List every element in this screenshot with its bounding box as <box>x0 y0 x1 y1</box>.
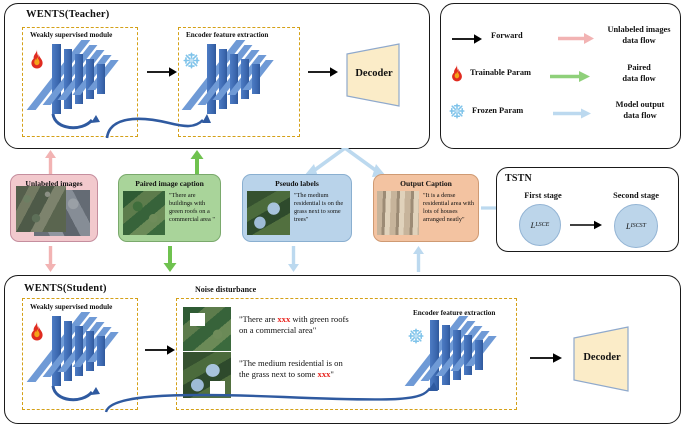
legend-label-trainable: Trainable Param <box>470 68 531 79</box>
legend-blue-arrow <box>553 107 591 120</box>
student-forward-arrow-1 <box>145 344 175 356</box>
legend-forward-arrow <box>452 33 482 45</box>
student-encoder-skip-arrow <box>104 380 434 412</box>
pink-arrow-down-to-student <box>44 246 57 272</box>
paired-image-caption-title: Paired image caption <box>119 179 220 188</box>
student-weak-module-label: Weakly supervised module <box>30 303 112 311</box>
student-caption-1-part-c: on a commercial area" <box>239 325 316 335</box>
legend-label-frozen: Frozen Param <box>472 106 523 117</box>
tstn-second-stage-label: Second stage <box>600 191 672 200</box>
legend-flame-icon <box>450 64 464 82</box>
output-caption-thumb <box>377 191 419 235</box>
student-encoder-label: Encoder feature extraction <box>413 309 495 317</box>
tstn-stage-arrow <box>570 219 602 231</box>
pink-arrow-up-to-teacher <box>44 150 57 176</box>
tstn-loss2-subscript: ISCST <box>631 223 646 229</box>
student-caption-1-part-b: with green roofs <box>290 314 348 324</box>
student-decoder-label: Decoder <box>572 352 632 363</box>
legend-pink-arrow <box>558 32 594 45</box>
student-snowflake-icon <box>408 328 424 344</box>
green-arrow-down-to-student <box>163 246 177 272</box>
student-flame-icon <box>29 321 45 341</box>
student-caption-2: "The medium residential is on the grass … <box>239 358 409 381</box>
legend-paired-flow-line2: data flow <box>622 74 655 83</box>
teacher-forward-arrow-2 <box>308 66 338 78</box>
legend-unlabeled-flow-line2: data flow <box>622 36 655 45</box>
paired-image-thumb <box>123 191 165 235</box>
legend-label-unlabeled-flow: Unlabeled images data flow <box>600 25 678 46</box>
legend-label-forward: Forward <box>491 31 523 42</box>
teacher-panel-title: WENTS(Teacher) <box>26 9 110 20</box>
flame-icon <box>29 49 45 69</box>
tstn-loss1-subscript: LSCE <box>535 222 549 228</box>
pseudo-label-thumb <box>247 191 290 235</box>
teacher-encoder-network <box>207 44 275 122</box>
blue-arrow-down-to-student <box>287 246 300 272</box>
teacher-decoder-label: Decoder <box>345 68 403 79</box>
student-caption-2-part-b: the grass next to some <box>239 369 318 379</box>
unlabeled-image-thumb-1 <box>16 186 66 232</box>
student-encoder-network <box>430 320 498 398</box>
blue-arrow-up-to-output-caption <box>412 246 425 272</box>
tstn-title: TSTN <box>505 173 532 184</box>
student-noise-disturbance-label: Noise disturbance <box>195 285 256 294</box>
legend-model-output-flow-line2: data flow <box>623 111 656 120</box>
teacher-encoder-skip-arrow <box>105 108 209 138</box>
pseudo-labels-caption-text: "The medium residential is on the grass … <box>294 192 348 224</box>
student-caption-2-part-a: "The medium residential is on <box>239 358 343 368</box>
teacher-encoder-label: Encoder feature extraction <box>186 31 268 39</box>
tstn-first-stage-label: First stage <box>510 191 576 200</box>
student-mask-patch-1 <box>190 313 205 326</box>
student-caption-2-mask: xxx <box>318 369 331 379</box>
paired-image-caption-text: "There are buildings with green roofs on… <box>169 192 216 224</box>
student-forward-arrow-2 <box>530 352 562 364</box>
student-caption-1-mask: xxx <box>277 314 290 324</box>
snowflake-icon <box>183 52 200 69</box>
legend-label-paired-flow: Paired data flow <box>600 63 678 84</box>
legend-green-arrow <box>550 70 590 83</box>
teacher-weak-module-label: Weakly supervised module <box>30 31 112 39</box>
green-arrow-up-to-teacher <box>190 150 204 176</box>
student-caption-1-part-a: "There are <box>239 314 277 324</box>
output-caption-title: Output Caption <box>374 179 478 188</box>
student-caption-1: "There are xxx with green roofs on a com… <box>239 314 399 337</box>
teacher-weak-module-skip-arrow <box>48 112 102 138</box>
teacher-forward-arrow-1 <box>147 66 177 78</box>
output-caption-text: "It is a dense residential area with lot… <box>423 192 475 224</box>
legend-label-model-output-flow: Model output data flow <box>600 100 680 121</box>
legend-unlabeled-flow-line1: Unlabeled images <box>607 25 670 34</box>
legend-snowflake-icon <box>449 103 465 119</box>
student-caption-2-part-c: " <box>330 369 334 379</box>
legend-paired-flow-line1: Paired <box>627 63 651 72</box>
tstn-second-stage-loss: LISCST <box>614 204 658 248</box>
pseudo-labels-title: Pseudo labels <box>243 179 351 188</box>
student-weak-module-skip-arrow <box>48 384 102 410</box>
legend-model-output-flow-line1: Model output <box>616 100 665 109</box>
student-panel-title: WENTS(Student) <box>24 283 107 294</box>
tstn-first-stage-loss: LLSCE <box>519 204 561 246</box>
